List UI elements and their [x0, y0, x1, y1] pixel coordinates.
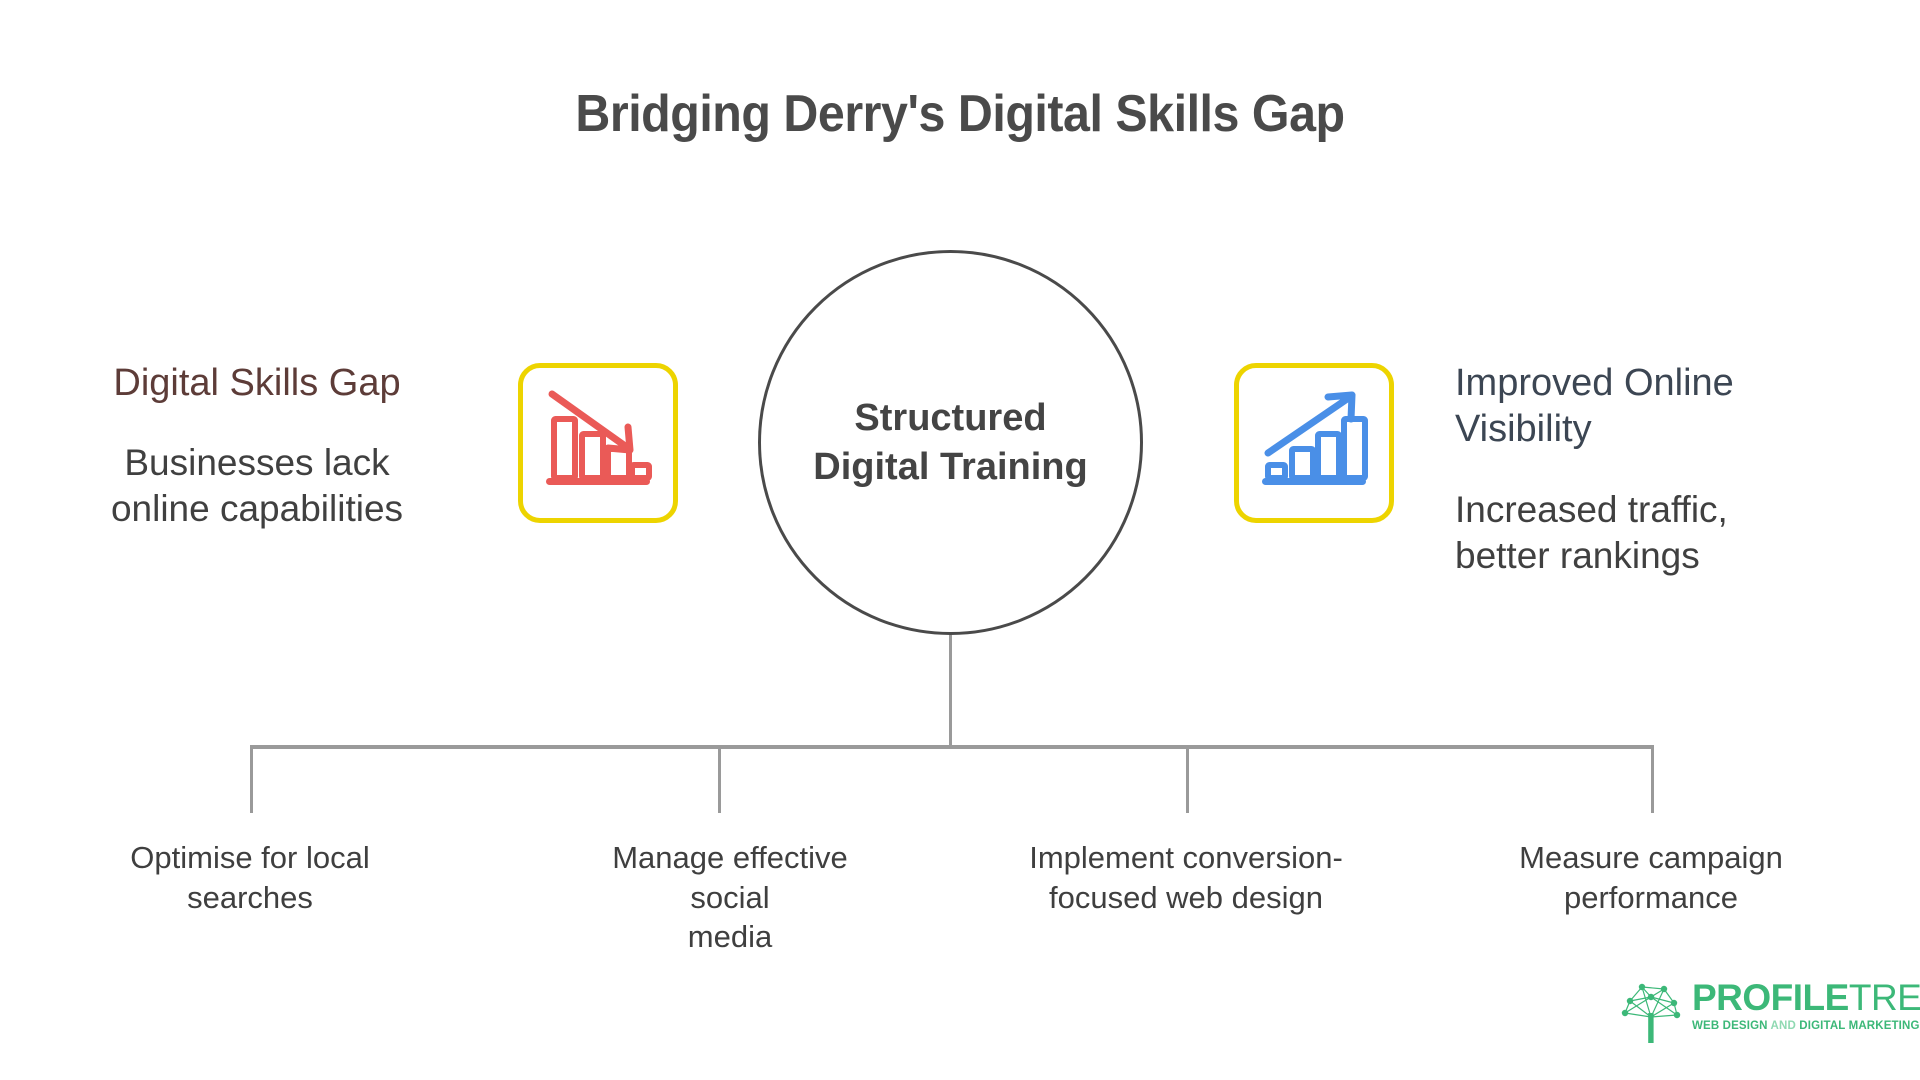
center-label-line-2: Digital Training — [786, 443, 1116, 492]
tagline-part-1: WEB DESIGN — [1692, 1020, 1771, 1032]
branch-label-4: Measure campaign performance — [1501, 838, 1801, 917]
profiletree-wordmark: PROFILETREE — [1692, 979, 1920, 1016]
connector-drop-3 — [1186, 745, 1189, 813]
profiletree-logo: PROFILETREE WEB DESIGN AND DIGITAL MARKE… — [1620, 975, 1920, 1048]
connector-stem — [949, 633, 952, 748]
center-label-line-1: Structured — [786, 394, 1116, 443]
tagline-part-2: AND — [1771, 1020, 1800, 1032]
right-body-line-2: better rankings — [1455, 533, 1845, 579]
branch-label-3-line-2: focused web design — [1026, 878, 1346, 918]
left-body-line-2: online capabilities — [62, 486, 452, 532]
page-title: Bridging Derry's Digital Skills Gap — [67, 84, 1853, 144]
right-heading-line-1: Improved Online — [1455, 360, 1845, 406]
connector-drop-1 — [250, 745, 253, 813]
branch-label-1-line-2: searches — [100, 878, 400, 918]
profiletree-logo-text: PROFILETREE WEB DESIGN AND DIGITAL MARKE… — [1692, 975, 1920, 1032]
wordmark-tree: TREE — [1849, 977, 1920, 1018]
profiletree-tagline: WEB DESIGN AND DIGITAL MARKETING — [1692, 1020, 1920, 1032]
branch-label-1: Optimise for local searches — [100, 838, 400, 917]
branch-label-3: Implement conversion- focused web design — [1026, 838, 1346, 917]
right-body-line-1: Increased traffic, — [1455, 487, 1845, 533]
wordmark-profile: PROFILE — [1692, 977, 1849, 1018]
branch-label-3-line-1: Implement conversion- — [1026, 838, 1346, 878]
branch-label-2-line-2: media — [570, 917, 890, 957]
center-node-circle: Structured Digital Training — [758, 250, 1143, 635]
right-icon-card — [1234, 363, 1394, 523]
tagline-part-3: DIGITAL MARKETING — [1799, 1020, 1919, 1032]
right-text-block: Improved Online Visibility Increased tra… — [1455, 360, 1845, 578]
profiletree-network-tree-icon — [1620, 975, 1682, 1048]
rising-bar-chart-icon — [1258, 386, 1370, 501]
left-body: Businesses lack online capabilities — [62, 440, 452, 532]
right-heading: Improved Online Visibility — [1455, 360, 1845, 453]
right-body: Increased traffic, better rankings — [1455, 487, 1845, 579]
left-body-line-1: Businesses lack — [62, 440, 452, 486]
left-icon-card — [518, 363, 678, 523]
branch-label-4-line-1: Measure campaign — [1501, 838, 1801, 878]
connector-horizontal-bar — [250, 745, 1654, 749]
branch-label-4-line-2: performance — [1501, 878, 1801, 918]
connector-drop-4 — [1651, 745, 1654, 813]
center-node-label: Structured Digital Training — [786, 394, 1116, 491]
declining-bar-chart-icon — [542, 386, 654, 501]
connector-drop-2 — [718, 745, 721, 813]
left-heading: Digital Skills Gap — [62, 360, 452, 406]
left-text-block: Digital Skills Gap Businesses lack onlin… — [62, 360, 452, 532]
branch-label-2: Manage effective social media — [570, 838, 890, 957]
branch-label-1-line-1: Optimise for local — [100, 838, 400, 878]
infographic-canvas: Bridging Derry's Digital Skills Gap Digi… — [0, 0, 1920, 1080]
branch-label-2-line-1: Manage effective social — [570, 838, 890, 917]
right-heading-line-2: Visibility — [1455, 406, 1845, 452]
